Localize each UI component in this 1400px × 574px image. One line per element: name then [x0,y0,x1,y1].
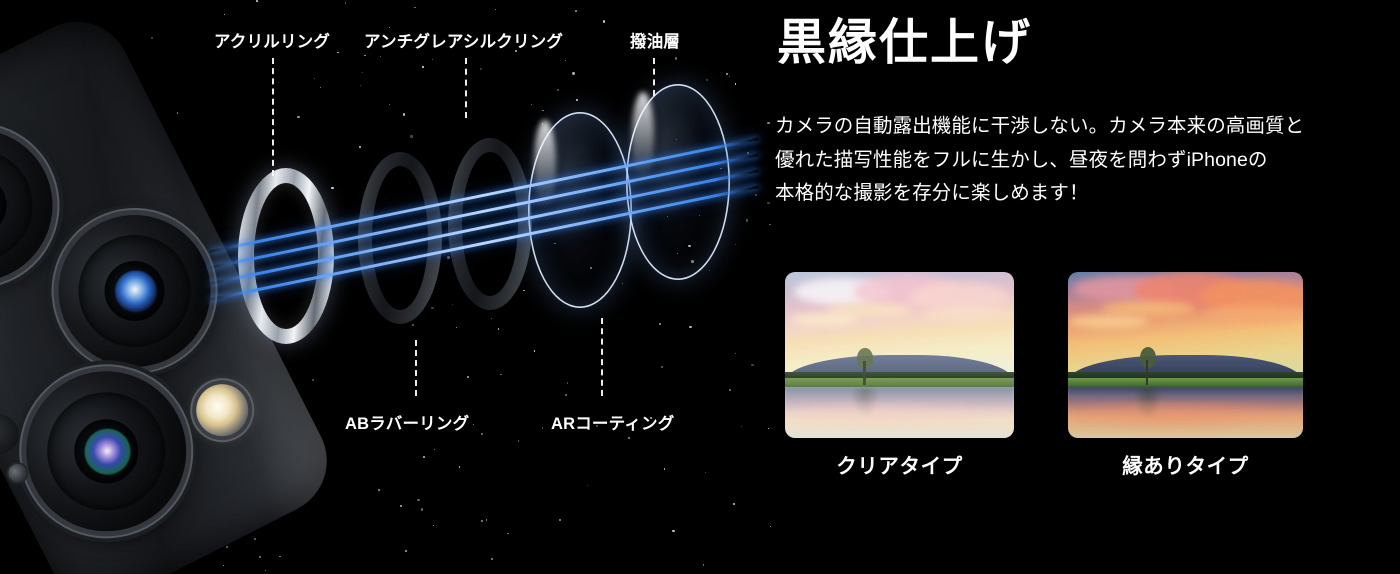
description-line-3: 本格的な撮影を存分に楽しめます！ [775,177,1355,211]
sample-photo-clear [785,272,1014,438]
tree-clear [851,348,878,385]
cloud-reflection-clear [799,401,1001,431]
caption-bordered-type: 縁ありタイプ [1068,449,1303,479]
leader-line-oleophobic-layer [653,58,655,96]
oleophobic-layer-lens-part [626,84,730,280]
grass-clear [785,378,1014,386]
leader-line-anti-glare-silk-ring [465,58,467,118]
part-label-oleophobic-layer: 撥油層 [630,28,680,52]
sample-photo-bordered [1068,272,1303,438]
description-line-2: 優れた描写性能をフルに生かし、昼夜を問わずiPhoneの [775,144,1355,178]
leader-line-ar-coating [601,318,603,396]
scene-clear [785,272,1014,438]
page-title: 黒縁仕上げ [777,16,1032,71]
acrylic-ring-part [238,168,334,344]
leader-line-ab-rubber-ring [415,340,417,396]
part-label-ar-coating: ARコーティング [551,410,674,434]
part-label-acrylic-ring: アクリルリング [214,28,330,52]
description-text: カメラの自動露出機能に干渉しない。カメラ本来の高画質と 優れた描写性能をフルに生… [775,110,1355,211]
scene-bordered [1068,272,1303,438]
tree-bordered [1134,347,1162,385]
grass-bordered [1068,378,1303,386]
part-label-ab-rubber-ring: ABラバーリング [345,410,469,434]
ar-coating-lens-part [528,112,632,308]
ab-rubber-ring-part-2 [448,138,532,310]
product-feature-banner: アクリルリングアンチグレアシルクリング撥油層ABラバーリングARコーティング 黒… [0,0,1400,574]
leader-line-acrylic-ring [272,58,274,176]
description-line-1: カメラの自動露出機能に干渉しない。カメラ本来の高画質と [775,110,1355,144]
caption-clear-type: クリアタイプ [785,449,1014,479]
cloud-reflection-bordered [1077,401,1293,433]
part-label-anti-glare-silk-ring: アンチグレアシルクリング [364,28,563,52]
ab-rubber-ring-part-1 [358,152,442,324]
